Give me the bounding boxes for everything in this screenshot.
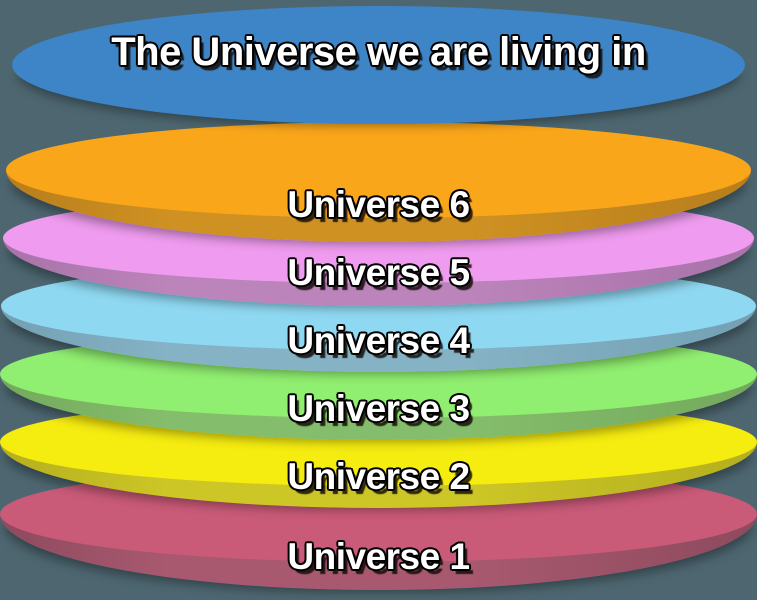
diagram-canvas: Universe 1Universe 2Universe 3Universe 4… (0, 0, 757, 600)
layer-universe-6-top-face (6, 122, 751, 218)
layer-top-top-face (12, 6, 745, 124)
